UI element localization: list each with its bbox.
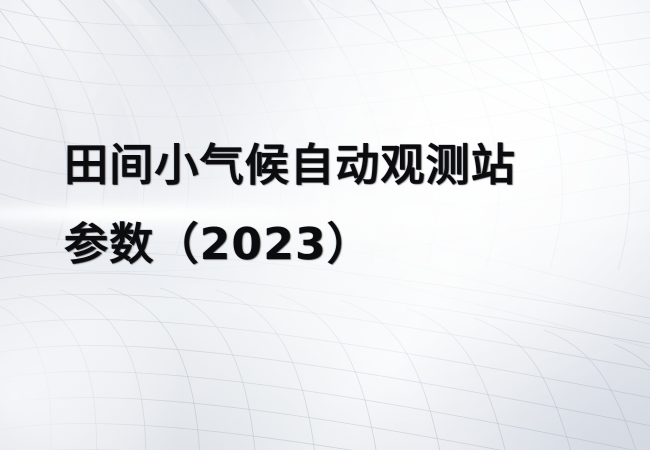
- title-line-1: 田间小气候自动观测站: [64, 126, 584, 205]
- title-line-2: 参数（2023）: [64, 205, 584, 284]
- title-banner: 田间小气候自动观测站 参数（2023）: [0, 0, 650, 450]
- page-title: 田间小气候自动观测站 参数（2023）: [64, 126, 584, 284]
